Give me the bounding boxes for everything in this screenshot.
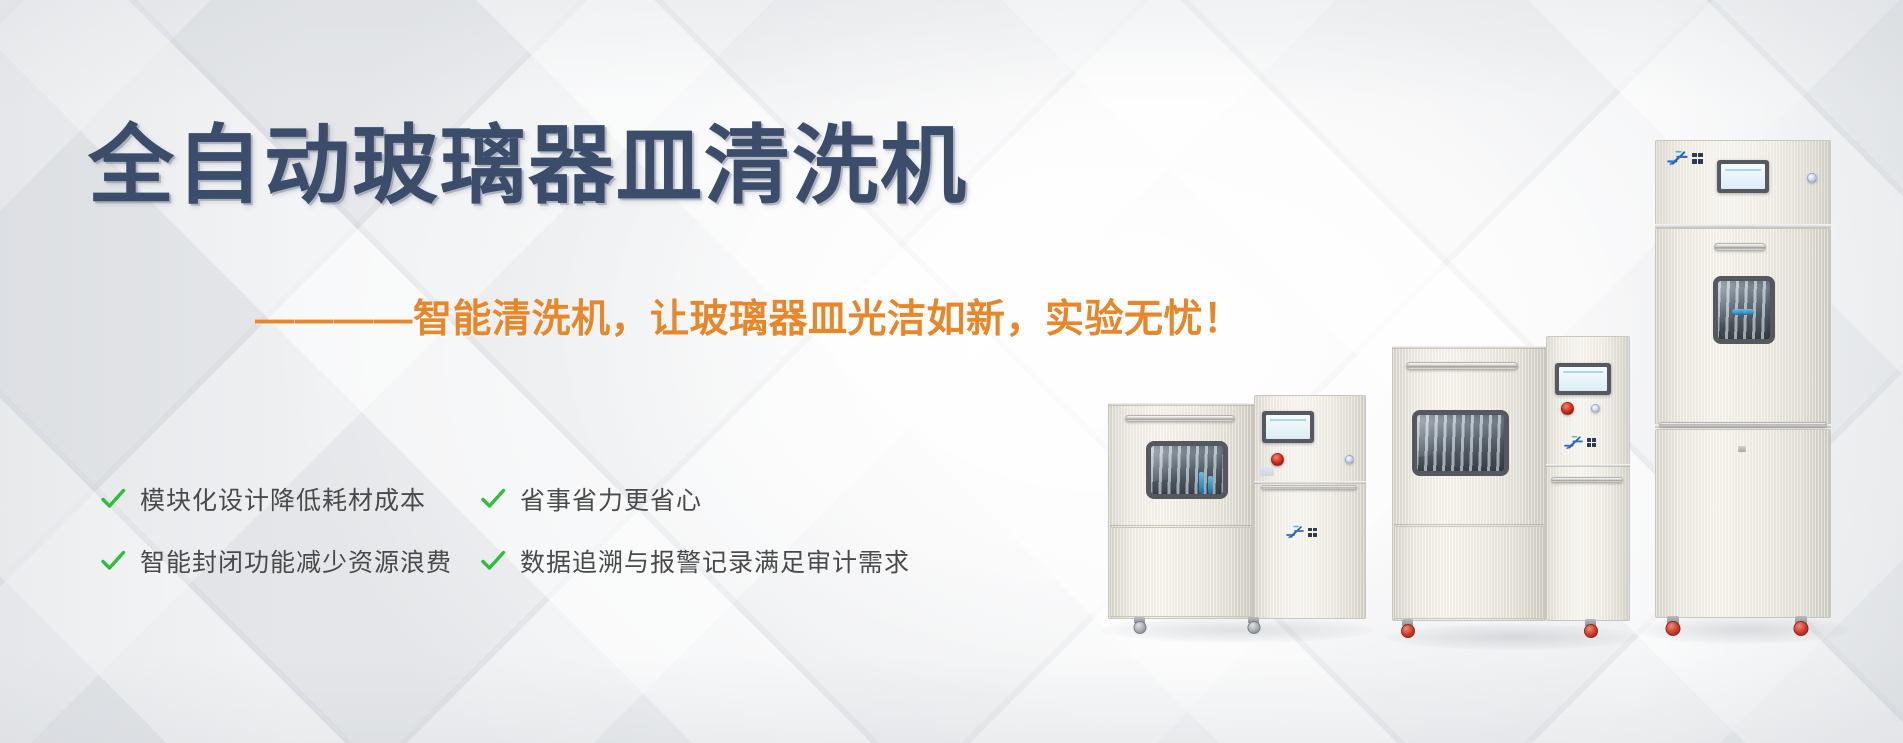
lower-service-door[interactable] (1110, 527, 1252, 617)
caster-wheel (1248, 617, 1259, 623)
caster-wheel (1134, 617, 1145, 623)
logo-dots (1692, 153, 1703, 164)
logo-dots (1308, 528, 1317, 537)
hmi-screen-content (1721, 164, 1765, 189)
lower-service-door[interactable] (1394, 526, 1544, 619)
hmi-screen-content (1266, 415, 1310, 439)
product-image-group (0, 0, 1903, 743)
power-indicator-button[interactable] (1591, 404, 1600, 413)
caster-wheel (1402, 619, 1413, 626)
hmi-touchscreen[interactable] (1717, 160, 1769, 193)
caster-wheel (1585, 619, 1596, 626)
caster-wheel (1795, 616, 1807, 624)
blue-vial (1199, 472, 1204, 494)
window-glare (1713, 276, 1753, 324)
power-indicator-button[interactable] (1807, 173, 1817, 183)
product-shadow (1386, 624, 1638, 650)
tower-divider-seam (1254, 481, 1366, 484)
product-image-tall-column-washer (1645, 118, 1841, 638)
door-handle[interactable] (1125, 415, 1235, 422)
chamber-viewing-window (1713, 276, 1775, 344)
chamber-viewing-window (1412, 410, 1509, 476)
logo-h-mark (1564, 435, 1584, 450)
door-handle[interactable] (1406, 362, 1518, 370)
caster-wheel (1667, 616, 1679, 624)
logo-dots (1587, 438, 1596, 447)
logo-h-mark (1667, 150, 1689, 166)
door-handle[interactable] (1714, 243, 1766, 251)
hmi-touchscreen[interactable] (1262, 411, 1314, 443)
chamber-viewing-window (1146, 441, 1228, 499)
emergency-stop-button[interactable] (1561, 402, 1574, 415)
logo-h-mark (1286, 525, 1305, 539)
base-door-handle[interactable] (1659, 422, 1827, 427)
lower-door-seam (1394, 524, 1544, 525)
product-hero-banner: 全自动玻璃器皿清洗机 ————智能清洗机，让玻璃器皿光洁如新，实验无忧！ 模块化… (0, 0, 1903, 743)
chamber-top-seam (1392, 346, 1546, 349)
tower-door-handle[interactable] (1551, 477, 1623, 483)
base-cabinet-door[interactable] (1655, 429, 1831, 618)
brand-logo (1286, 525, 1317, 539)
hmi-screen-content (1559, 367, 1607, 391)
chamber-top-seam (1108, 403, 1254, 406)
emergency-stop-button[interactable] (1271, 453, 1284, 466)
window-glare (1412, 410, 1472, 458)
blue-vial (1208, 476, 1213, 494)
power-indicator-button[interactable] (1345, 455, 1354, 464)
product-image-undercounter-washer (1108, 395, 1366, 630)
brand-logo (1667, 150, 1703, 166)
rating-label (1260, 467, 1274, 476)
tower-divider-seam (1546, 464, 1630, 467)
cabinet-lock[interactable] (1738, 446, 1746, 452)
hmi-touchscreen[interactable] (1555, 363, 1611, 395)
brand-logo (1564, 435, 1596, 450)
tower-door-handle[interactable] (1261, 485, 1357, 490)
lower-door-seam (1110, 525, 1252, 526)
product-image-freestanding-washer (1392, 336, 1630, 636)
